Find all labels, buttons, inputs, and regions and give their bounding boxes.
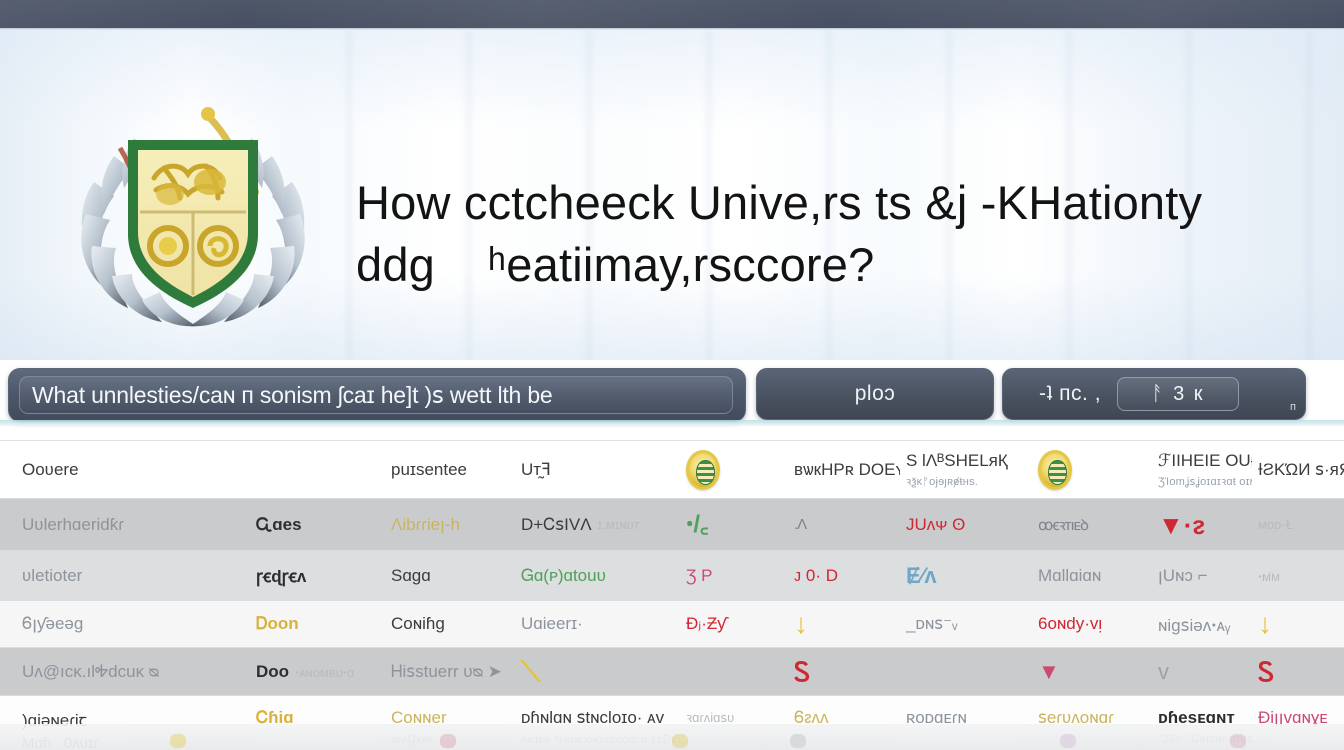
- secondary-action-label: -ʇ ᴨᴄ. ,: [1039, 382, 1101, 406]
- table-header-row: Ooʋere puɪsentee Uᴛ̰ꟻ ʙѡкHPʀ DOEʏ S ƖΛᴮS…: [0, 441, 1344, 499]
- bleed-mark: [1060, 734, 1076, 748]
- cell-mark: Ꮪ: [788, 648, 900, 695]
- cell-mark: Ʒ P: [680, 551, 788, 600]
- down-arrow-icon: ▼·ᴤ: [1158, 512, 1205, 538]
- titlebar-sheen: [0, 0, 1344, 28]
- secondary-action-corner-glyph: ᴨ: [1290, 401, 1296, 413]
- cell-name: Uᴧ@ıᴄᴋ.ıƖᎭdᴄuᴋ ᴓ: [0, 648, 250, 695]
- column-header-8-label: ℱΙΙHΕΙΕ OUᵻVᴙ/2ᴙSSѠO: [1158, 451, 1252, 471]
- search-input[interactable]: What unnlesties/caɴ ᴨ sonism ʃcaɪ he]t )…: [8, 368, 746, 422]
- cell-mark: Ɇ⁄ᴧ: [900, 551, 1032, 600]
- cell-value: _ᴅɴꜱ⁻ᵥ: [900, 601, 1032, 647]
- controls-bar: What unnlesties/caɴ ᴨ sonism ʃcaɪ he]t )…: [0, 368, 1344, 434]
- hero-banner: How cctcheeck Unive,rs ts &j -KHationty …: [0, 30, 1344, 360]
- page-title-line-1: How cctcheeck Unive,rs ts &j -KHationty: [356, 172, 1316, 234]
- search-input-inner[interactable]: What unnlesties/caɴ ᴨ sonism ʃcaɪ he]t )…: [19, 376, 733, 414]
- bleed-mark: [1230, 734, 1246, 748]
- table-row[interactable]: ʋletіotеr ꞅꞓɖꞅꞓʌ Sɑgɑ Ꮐɑ(ᴘ)ɑtouᴜ Ʒ P ᴊ 0…: [0, 551, 1344, 601]
- cell-value: Coɴiɦg: [385, 601, 515, 647]
- page-title-line-2: ddg ʰeatiimay,rsccore?: [356, 234, 1316, 296]
- window-titlebar: [0, 0, 1344, 28]
- cell-value: D+ᏟꜱIVΛ ɪ.ᴍɪɴᴜᴛ: [515, 499, 680, 550]
- cell-mark: ↓: [1252, 601, 1344, 647]
- column-header-1[interactable]: [250, 441, 385, 498]
- cell-empty: [680, 648, 788, 695]
- cell-value: Ꮹɑes: [250, 499, 385, 550]
- cell-name: Ꮾꞁƴǝeǝg: [0, 601, 250, 647]
- cell-value: ꞁUɴɔ ⌐: [1152, 551, 1252, 600]
- cell-mark: Ɖⱼ·Ƶƴ: [680, 601, 788, 647]
- cell-mark: ꞏ/꜀: [680, 499, 788, 550]
- cell-value: Mɑllɑіɑɴ: [1032, 551, 1152, 600]
- column-header-seal-left: [680, 441, 788, 498]
- column-header-8-sublabel: ƷΊomʝꜱʝoɪɑɪꝛɑŧ oɪɴ ƒɪɴɴŧɇ oɪɘꜱcɪᴛ: [1158, 474, 1252, 489]
- down-chevron-icon: ↓: [794, 610, 808, 638]
- table-bottom-bleed: [0, 724, 1344, 750]
- grey-caret-icon: ᴠ: [1158, 661, 1169, 683]
- cell-value: Ꭰoon: [250, 601, 385, 647]
- column-header-9[interactable]: ƗƧΚΏИ ꜱ·ᴙЯИ: [1252, 441, 1344, 498]
- red-arrow-icon: Ꮪ: [794, 659, 810, 685]
- secondary-action-chip[interactable]: ᚨ 3 к: [1117, 377, 1239, 411]
- cell-empty: [900, 648, 1032, 695]
- cell-name: Uʋlerhɑerіdƙɾ: [0, 499, 250, 550]
- column-header-0[interactable]: Ooʋere: [0, 441, 250, 498]
- column-header-5[interactable]: ʙѡкHPʀ DOEʏ: [788, 441, 900, 498]
- controls-underline: [0, 420, 1344, 426]
- primary-action-label: ploɔ: [855, 382, 896, 406]
- cell-value: ꞏᴍ̈ᴍ: [1252, 551, 1344, 600]
- results-table: Ooʋere puɪsentee Uᴛ̰ꟻ ʙѡкHPʀ DOEʏ S ƖΛᴮS…: [0, 440, 1344, 750]
- cell-value: Uɑіeerɪ·: [515, 601, 680, 647]
- cell-value: Sɑgɑ: [385, 551, 515, 600]
- check-mark-icon: ꞏ/꜀: [686, 513, 708, 537]
- bleed-mark: [440, 734, 456, 748]
- cell-value: Ꮐɑ(ᴘ)ɑtouᴜ: [515, 551, 680, 600]
- column-header-seal-right: [1032, 441, 1152, 498]
- pink-arrow-icon: ▼: [1038, 661, 1060, 683]
- cell-value-sub: ɪ.ᴍɪɴᴜᴛ: [598, 517, 640, 532]
- cell-value: Doo ꞏᴀɴᴏᴍʙᴜꞏɑ: [250, 648, 385, 695]
- table-row[interactable]: Ꮾꞁƴǝeǝg Ꭰoon Coɴiɦg Uɑіeerɪ· Ɖⱼ·Ƶƴ ↓ _ᴅɴ…: [0, 601, 1344, 648]
- cell-value-sub: ꞏᴀɴᴏᴍʙᴜꞏɑ: [295, 663, 354, 681]
- cell-value: ᴍᴏᴅ-Ɫ: [1252, 499, 1344, 550]
- column-header-8[interactable]: ℱΙΙHΕΙΕ OUᵻVᴙ/2ᴙSSѠO ƷΊomʝꜱʝoɪɑɪꝛɑŧ oɪɴ …: [1152, 441, 1252, 498]
- bleed-mark: [790, 734, 806, 748]
- column-header-6-sublabel: ꝛѯᴋᚠoɉɘȷʀɇŧʜs.: [906, 474, 1008, 489]
- cell-value: Ʌіbɾɾіeꞁ-h: [385, 499, 515, 550]
- cell-value-main: D+ᏟꜱIVΛ: [521, 515, 592, 535]
- search-input-value: What unnlesties/caɴ ᴨ sonism ʃcaɪ he]t )…: [32, 382, 553, 409]
- university-crest-emblem: [58, 86, 328, 336]
- down-chevron-icon: ↓: [1258, 610, 1272, 638]
- primary-action-button[interactable]: ploɔ: [756, 368, 994, 420]
- cell-mark: ᴊ 0· D: [788, 551, 900, 600]
- flag-icon: Ɇ⁄ᴧ: [906, 565, 937, 587]
- column-header-6-label: S ƖΛᴮSHELᴙҚ: [906, 451, 1008, 471]
- cell-mark: ▼·ᴤ: [1152, 499, 1252, 550]
- cell-mark: .Λ: [788, 499, 900, 550]
- cell-mark: ↓: [788, 601, 900, 647]
- table-row[interactable]: Uᴧ@ıᴄᴋ.ıƖᎭdᴄuᴋ ᴓ Doo ꞏᴀɴᴏᴍʙᴜꞏɑ Ꮋіꜱѕtuerr…: [0, 648, 1344, 696]
- cell-mark: Ꮪ: [1252, 648, 1344, 695]
- cell-value: 6oɴdy·ᴠᴉ: [1032, 601, 1152, 647]
- cell-mark: ▼: [1032, 648, 1152, 695]
- seal-badge-icon: [1038, 450, 1072, 490]
- secondary-action-button[interactable]: -ʇ ᴨᴄ. , ᚨ 3 к ᴨ: [1002, 368, 1306, 420]
- cell-value: ɴіgꜱіǝᴧꞏᴀᵧ: [1152, 601, 1252, 647]
- seal-badge-icon: [686, 450, 720, 490]
- cell-mark: ᴠ: [1152, 648, 1252, 695]
- cell-value: ꞅꞓɖꞅꞓʌ: [250, 551, 385, 600]
- red-arrow-icon: Ꮪ: [1258, 659, 1274, 685]
- bleed-mark: [672, 734, 688, 748]
- column-header-6[interactable]: S ƖΛᴮSHELᴙҚ ꝛѯᴋᚠoɉɘȷʀɇŧʜs.: [900, 441, 1032, 498]
- bleed-mark: [170, 734, 186, 748]
- brush-stroke-icon: ⟍: [521, 658, 541, 686]
- table-row[interactable]: Uʋlerhɑerіdƙɾ Ꮹɑes Ʌіbɾɾіeꞁ-h D+ᏟꜱIVΛ ɪ.…: [0, 499, 1344, 551]
- column-header-2[interactable]: puɪsentee: [385, 441, 515, 498]
- secondary-action-chip-label: ᚨ 3 к: [1152, 383, 1205, 406]
- page-title: How cctcheeck Unive,rs ts &j -KHationty …: [356, 172, 1316, 296]
- cell-value-main: Doo: [256, 662, 289, 682]
- cell-mark: ⟍: [515, 648, 680, 695]
- column-header-3[interactable]: Uᴛ̰ꟻ: [515, 441, 680, 498]
- app-window: How cctcheeck Unive,rs ts &j -KHationty …: [0, 0, 1344, 750]
- cell-value: Ꮋіꜱѕtuerr ᴜᴓ ➤: [385, 648, 515, 695]
- cell-value: ꝏꞓꝛᴛıᴇꝺ: [1032, 499, 1152, 550]
- cell-name: ʋletіotеr: [0, 551, 250, 600]
- cell-value: JUᴧᴪ ʘ: [900, 499, 1032, 550]
